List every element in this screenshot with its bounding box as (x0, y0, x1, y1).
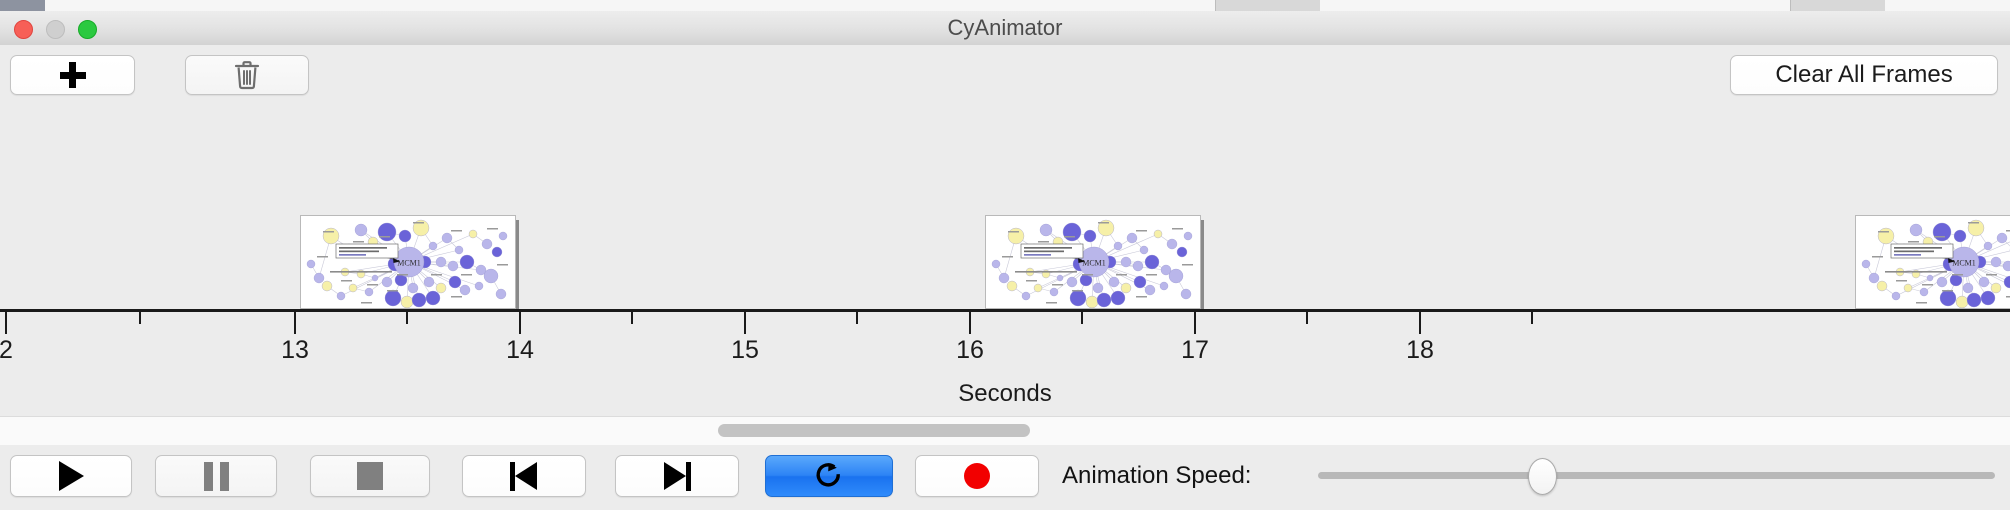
playback-control-bar: Animation Speed: (0, 445, 2010, 510)
axis-tick-major (1194, 312, 1196, 334)
animation-speed-label: Animation Speed: (1062, 455, 1251, 497)
delete-frame-button[interactable] (185, 55, 309, 95)
axis-tick-minor (139, 312, 141, 324)
axis-tick-label: 17 (1181, 336, 1209, 365)
axis-tick-major (294, 312, 296, 334)
page-title: CyAnimator (0, 11, 2010, 45)
play-icon (59, 461, 84, 491)
frame-thumbnail[interactable]: MCM1 (300, 215, 519, 312)
axis-title: Seconds (0, 380, 2010, 408)
axis-tick-label: 13 (281, 336, 309, 365)
frames-toolbar: Clear All Frames (0, 45, 2010, 111)
frame-canvas[interactable]: MCM1 (985, 215, 1201, 309)
axis-tick-minor (856, 312, 858, 324)
slider-thumb[interactable] (1528, 458, 1557, 495)
axis-tick-minor (1081, 312, 1083, 324)
pause-button[interactable] (155, 455, 277, 497)
record-circle-icon (964, 463, 990, 489)
axis-tick-minor (406, 312, 408, 324)
axis-tick-major (5, 312, 7, 334)
axis-tick-major (519, 312, 521, 334)
axis-tick-major (969, 312, 971, 334)
frame-canvas[interactable]: MCM1 (1855, 215, 2010, 309)
record-button[interactable] (915, 455, 1039, 497)
add-frame-button[interactable] (10, 55, 135, 95)
frame-thumbnail[interactable]: MCM1 (985, 215, 1204, 312)
axis-tick-label: 15 (731, 336, 759, 365)
timeline-scrollbar-thumb[interactable] (718, 424, 1030, 437)
trash-icon (234, 60, 260, 90)
plus-icon (60, 62, 86, 88)
stop-icon (357, 462, 383, 490)
loop-toggle-button[interactable] (765, 455, 893, 497)
clear-all-frames-label: Clear All Frames (1775, 61, 1952, 89)
skip-next-icon (663, 462, 691, 491)
slider-track[interactable] (1318, 472, 1995, 479)
stop-button[interactable] (310, 455, 430, 497)
axis-tick-major (744, 312, 746, 334)
svg-text:MCM1: MCM1 (1952, 259, 1976, 268)
pause-icon (204, 462, 229, 491)
network-graph-thumbnail: MCM1 (301, 216, 515, 308)
frame-canvas[interactable]: MCM1 (300, 215, 516, 309)
title-bar: CyAnimator (0, 11, 2010, 46)
axis-tick-label: 14 (506, 336, 534, 365)
timeline-scrollbar-track[interactable] (0, 416, 2010, 446)
timeline-panel[interactable]: MCM1MCM1MCM1 (0, 110, 2010, 416)
play-button[interactable] (10, 455, 132, 497)
axis-tick-minor (1306, 312, 1308, 324)
axis-tick-minor (1531, 312, 1533, 324)
axis-tick-major (1419, 312, 1421, 334)
svg-text:MCM1: MCM1 (1082, 259, 1106, 268)
axis-tick-label: 2 (0, 336, 13, 365)
next-frame-button[interactable] (615, 455, 739, 497)
animation-speed-slider[interactable] (1318, 472, 1995, 480)
network-graph-thumbnail: MCM1 (986, 216, 1200, 308)
loop-refresh-icon (814, 460, 844, 492)
timeline-axis (0, 309, 2010, 312)
axis-tick-label: 16 (956, 336, 984, 365)
network-graph-thumbnail: MCM1 (1856, 216, 2010, 308)
axis-tick-minor (631, 312, 633, 324)
svg-text:MCM1: MCM1 (397, 259, 421, 268)
cyanimator-window: Shape CyAnimator (0, 0, 2010, 510)
clear-all-frames-button[interactable]: Clear All Frames (1730, 55, 1998, 95)
axis-tick-label: 18 (1406, 336, 1434, 365)
previous-frame-button[interactable] (462, 455, 586, 497)
skip-previous-icon (510, 462, 538, 491)
frame-thumbnail[interactable]: MCM1 (1855, 215, 2010, 312)
